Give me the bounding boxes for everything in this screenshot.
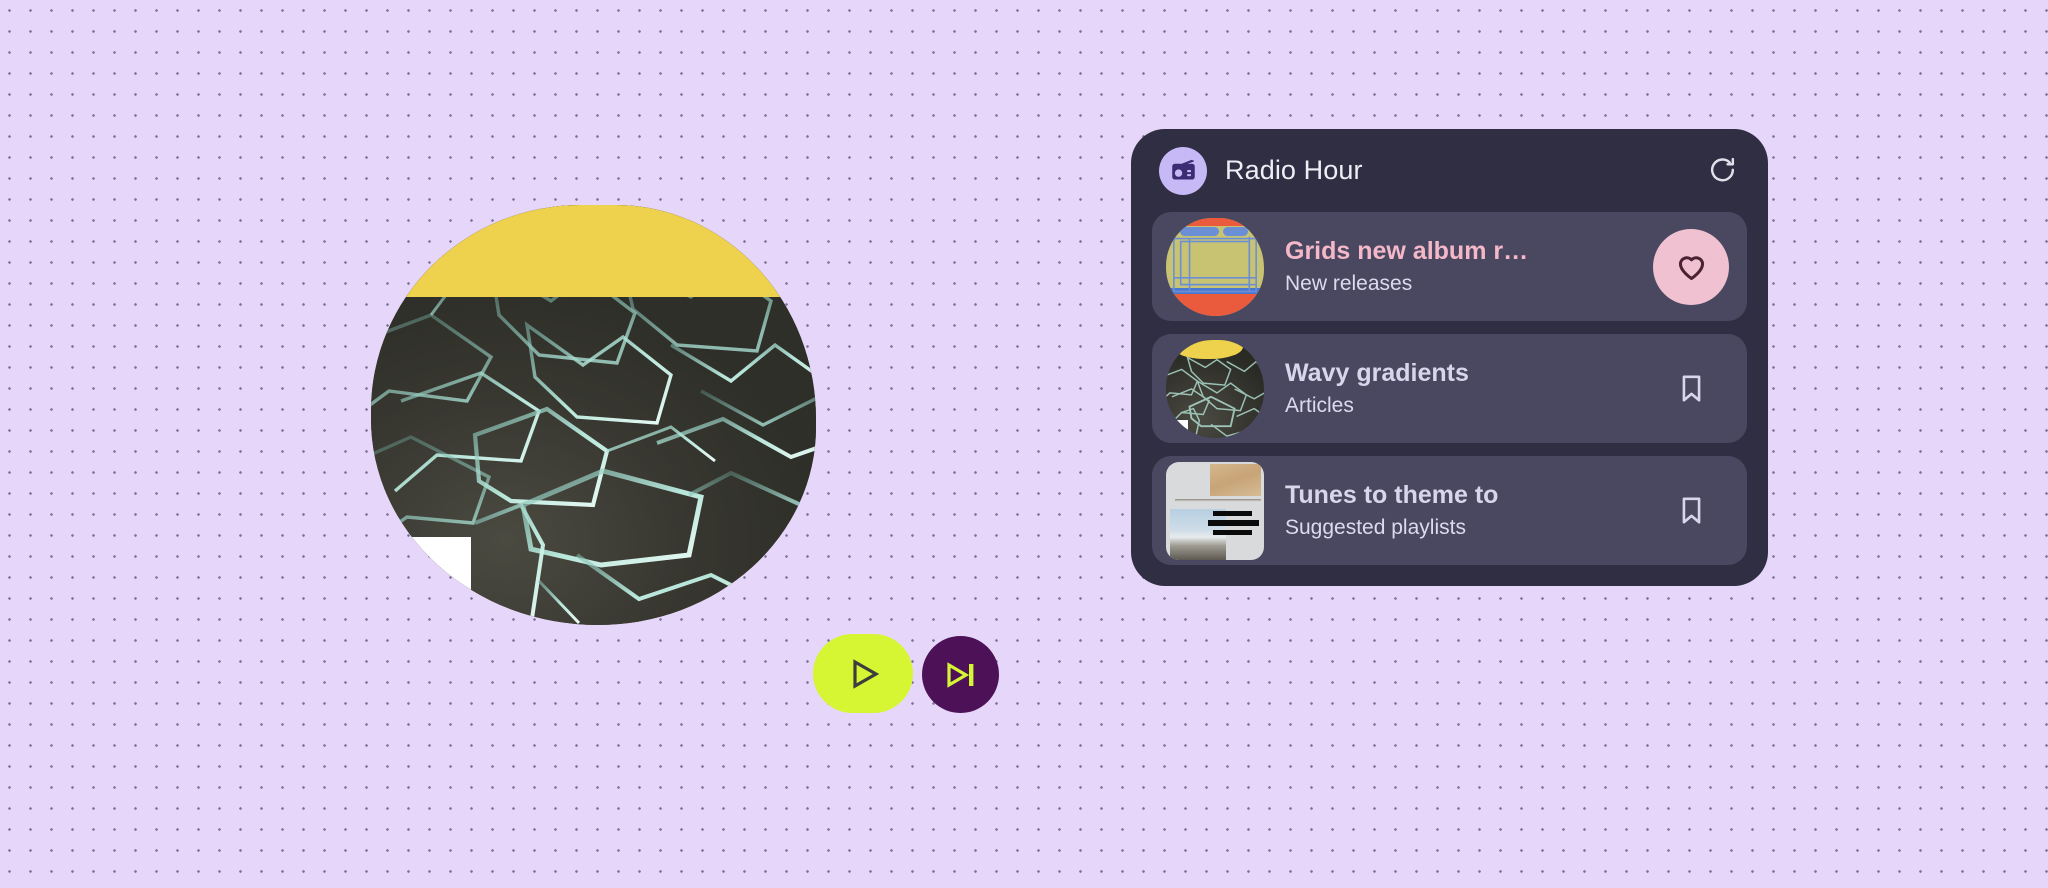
panel-header: Radio Hour — [1131, 129, 1768, 212]
bookmark-icon — [1675, 372, 1708, 405]
artwork-yellow-band — [371, 205, 816, 297]
panel-title: Radio Hour — [1225, 155, 1363, 186]
player-artwork-area — [371, 205, 816, 625]
artwork-white-square — [395, 537, 471, 621]
list-item-text: Tunes to theme to Suggested playlists — [1285, 482, 1653, 539]
magazine-thumbnail — [1166, 462, 1264, 560]
list-item-subtitle: Suggested playlists — [1285, 516, 1653, 539]
list-item[interactable]: Grids new album r… New releases — [1152, 212, 1747, 321]
play-icon — [843, 654, 883, 694]
play-button[interactable] — [813, 634, 913, 713]
favorite-button[interactable] — [1653, 229, 1729, 305]
list-item-title: Wavy gradients — [1285, 360, 1653, 388]
bookmark-button[interactable] — [1653, 473, 1729, 549]
heart-icon — [1674, 249, 1709, 284]
list-item-text: Wavy gradients Articles — [1285, 360, 1653, 417]
radio-hour-panel: Radio Hour — [1131, 129, 1768, 586]
list-item-title: Tunes to theme to — [1285, 482, 1653, 510]
bookmark-button[interactable] — [1653, 351, 1729, 427]
list-item-text: Grids new album r… New releases — [1285, 238, 1653, 295]
refresh-button[interactable] — [1702, 151, 1742, 191]
radio-icon — [1159, 147, 1207, 195]
list-item-subtitle: Articles — [1285, 394, 1653, 417]
grid-poster-thumbnail — [1166, 218, 1264, 316]
wavy-gradients-thumbnail — [1166, 340, 1264, 438]
list-item-subtitle: New releases — [1285, 272, 1653, 295]
list-item-title: Grids new album r… — [1285, 238, 1653, 266]
list-item[interactable]: Wavy gradients Articles — [1152, 334, 1747, 443]
skip-next-icon — [943, 657, 979, 693]
page-background: Radio Hour — [0, 0, 2048, 888]
radio-card-list: Grids new album r… New releases — [1131, 212, 1768, 585]
refresh-icon — [1707, 155, 1738, 186]
next-track-button[interactable] — [922, 636, 999, 713]
album-artwork[interactable] — [371, 205, 816, 625]
bookmark-icon — [1675, 494, 1708, 527]
list-item[interactable]: Tunes to theme to Suggested playlists — [1152, 456, 1747, 565]
